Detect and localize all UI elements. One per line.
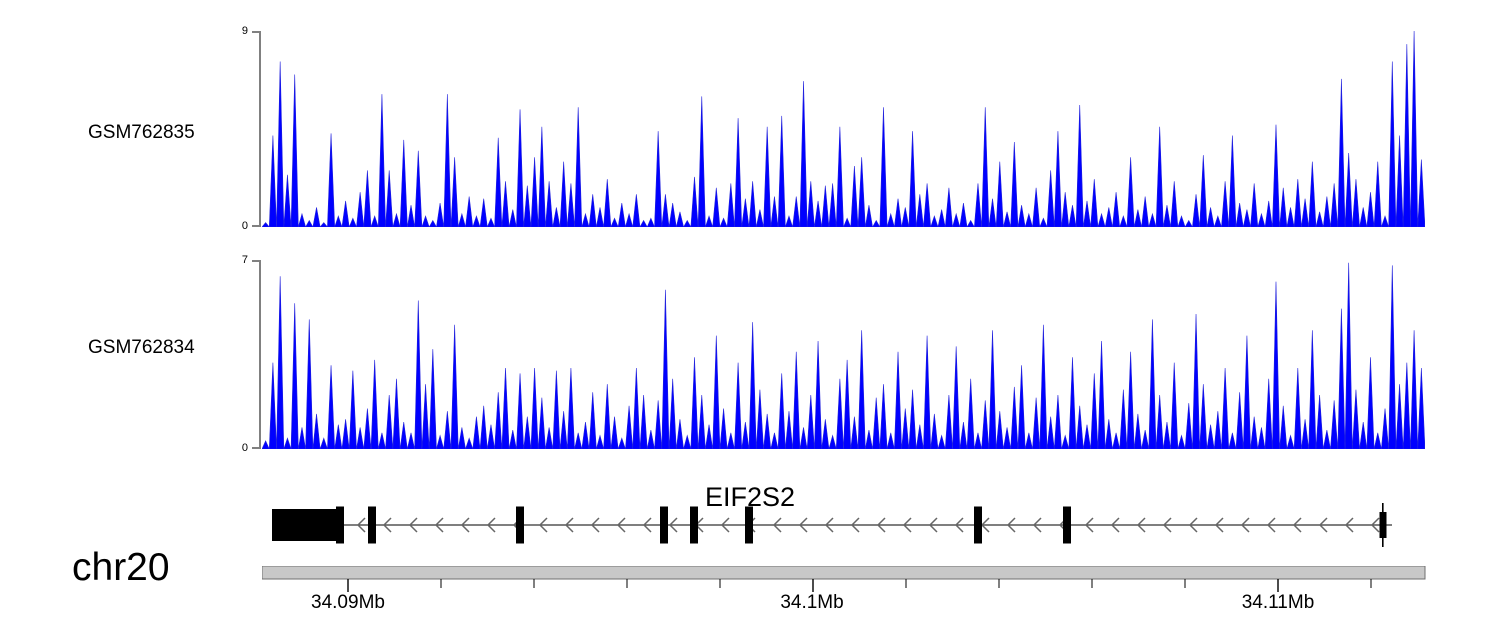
y-axis-tick-min (252, 225, 261, 227)
y-axis-track-2: 7 0 (247, 260, 261, 449)
y-axis-min-label: 0 (242, 443, 248, 454)
y-axis-tick-max (252, 260, 261, 262)
exon-bar (745, 507, 753, 544)
exon-bar (368, 507, 376, 544)
genome-axis-ticks (348, 579, 1371, 592)
exon-bar (1063, 507, 1071, 544)
y-axis-spine (259, 31, 261, 227)
y-axis-tick-max (252, 31, 261, 33)
coverage-track-gsm762834[interactable] (262, 260, 1425, 449)
y-axis-tick-min (252, 447, 261, 449)
genome-browser-view: GSM762835 9 0 GSM762834 7 0 EIF2S2 34.09… (0, 0, 1500, 640)
coverage-area (262, 263, 1425, 449)
track-label-gsm762834: GSM762834 (88, 337, 195, 359)
exon-tick (1382, 503, 1384, 547)
axis-tick-label: 34.1Mb (780, 592, 843, 614)
coverage-area (262, 31, 1425, 227)
y-axis-spine (259, 260, 261, 449)
exon-bar (336, 507, 344, 544)
y-axis-min-label: 0 (242, 221, 248, 232)
coverage-track-gsm762835[interactable] (262, 31, 1425, 227)
track-label-gsm762835: GSM762835 (88, 122, 195, 144)
gene-model-track[interactable] (262, 482, 1425, 554)
genome-axis[interactable] (262, 566, 1432, 592)
y-axis-max-label: 7 (242, 255, 248, 266)
exon-bar (690, 507, 698, 544)
axis-tick-label: 34.09Mb (311, 592, 385, 614)
exon-bar (974, 507, 982, 544)
exon-bar (660, 507, 668, 544)
chromosome-label: chr20 (72, 546, 170, 590)
y-axis-track-1: 9 0 (247, 31, 261, 227)
y-axis-max-label: 9 (242, 26, 248, 37)
utr-block (272, 509, 340, 541)
exon-bar (516, 507, 524, 544)
axis-tick-label: 34.11Mb (1242, 592, 1315, 614)
genome-axis-bar (262, 566, 1425, 579)
